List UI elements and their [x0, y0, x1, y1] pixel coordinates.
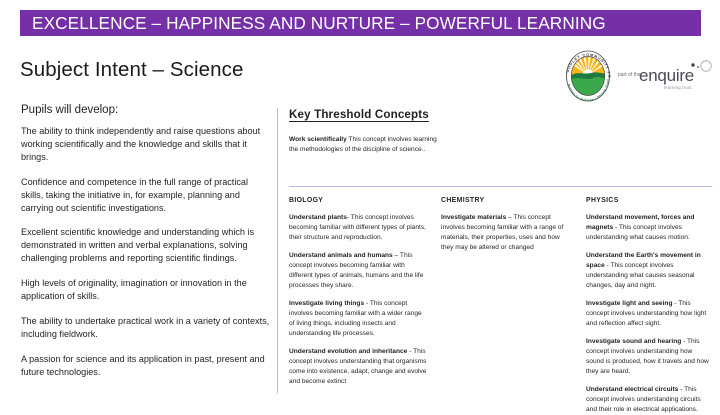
concept-item: Understand animals and humans – This con… — [289, 251, 427, 291]
panel-horizontal-divider — [289, 186, 712, 187]
left-paragraph: Excellent scientific knowledge and under… — [21, 226, 271, 265]
concept-item: Investigate light and seeing - This conc… — [586, 299, 712, 329]
page-title: Subject Intent – Science — [20, 58, 244, 82]
pupils-will-develop-section: Pupils will develop: The ability to thin… — [21, 104, 271, 379]
key-threshold-concepts-heading: Key Threshold Concepts — [289, 108, 711, 121]
svg-text:part of the: part of the — [618, 72, 641, 78]
left-paragraph: High levels of originality, imagination … — [21, 277, 271, 303]
left-paragraph: The ability to think independently and r… — [21, 125, 271, 164]
concept-term: Investigate living things — [289, 300, 364, 307]
concept-item: Understand plants- This concept involves… — [289, 213, 427, 243]
svg-text:enquire: enquire — [639, 66, 694, 85]
concept-item: Investigate living things - This concept… — [289, 299, 427, 339]
concept-term: Understand evolution and inheritance — [289, 348, 407, 355]
subject-column-chemistry: CHEMISTRY Investigate materials – This c… — [441, 197, 586, 415]
banner-title: EXCELLENCE – HAPPINESS AND NURTURE – POW… — [32, 13, 606, 34]
left-paragraph: Confidence and competence in the full ra… — [21, 176, 271, 215]
concept-term: Understand electrical circuits — [586, 386, 678, 393]
left-paragraph: A passion for science and its applicatio… — [21, 353, 271, 379]
concept-item: Understand movement, forces and magnets … — [586, 213, 712, 243]
logo-group: GODLEY COMMUNITY PRIMARY Believe to Achi… — [560, 47, 718, 107]
concept-item: Investigate materials – This concept inv… — [441, 213, 572, 253]
concept-term: Understand animals and humans — [289, 252, 393, 259]
subject-title-chemistry: CHEMISTRY — [441, 197, 572, 204]
concept-item: Understand electrical circuits - This co… — [586, 385, 712, 415]
header-banner: EXCELLENCE – HAPPINESS AND NURTURE – POW… — [20, 10, 701, 36]
concept-item: Investigate sound and hearing - This con… — [586, 337, 712, 377]
concept-term: Investigate materials — [441, 214, 506, 221]
left-column-heading: Pupils will develop: — [21, 104, 271, 116]
svg-text:learning trust: learning trust — [664, 85, 692, 90]
concept-item: Understand evolution and inheritance - T… — [289, 347, 427, 387]
subject-column-biology: BIOLOGY Understand plants- This concept … — [289, 197, 441, 415]
subject-column-physics: PHYSICS Understand movement, forces and … — [586, 197, 712, 415]
slide-page: EXCELLENCE – HAPPINESS AND NURTURE – POW… — [0, 0, 720, 405]
concept-term: Investigate light and seeing — [586, 300, 672, 307]
key-threshold-concepts-panel: Key Threshold Concepts Work scientifical… — [277, 108, 711, 393]
godley-community-primary-logo: GODLEY COMMUNITY PRIMARY Believe to Achi… — [560, 47, 616, 105]
work-scientifically-concept: Work scientifically This concept involve… — [289, 135, 439, 155]
concept-term: Investigate sound and hearing — [586, 338, 681, 345]
concept-item: Understand the Earth's movement in space… — [586, 251, 712, 291]
subject-title-biology: BIOLOGY — [289, 197, 427, 204]
subject-columns: BIOLOGY Understand plants- This concept … — [289, 197, 712, 415]
concept-term: Understand plants — [289, 214, 347, 221]
left-paragraph: The ability to undertake practical work … — [21, 315, 271, 341]
concept-term: Work scientifically — [289, 136, 347, 143]
enquire-learning-trust-logo: part of the enquire learning trust — [618, 59, 718, 95]
subject-title-physics: PHYSICS — [586, 197, 712, 204]
